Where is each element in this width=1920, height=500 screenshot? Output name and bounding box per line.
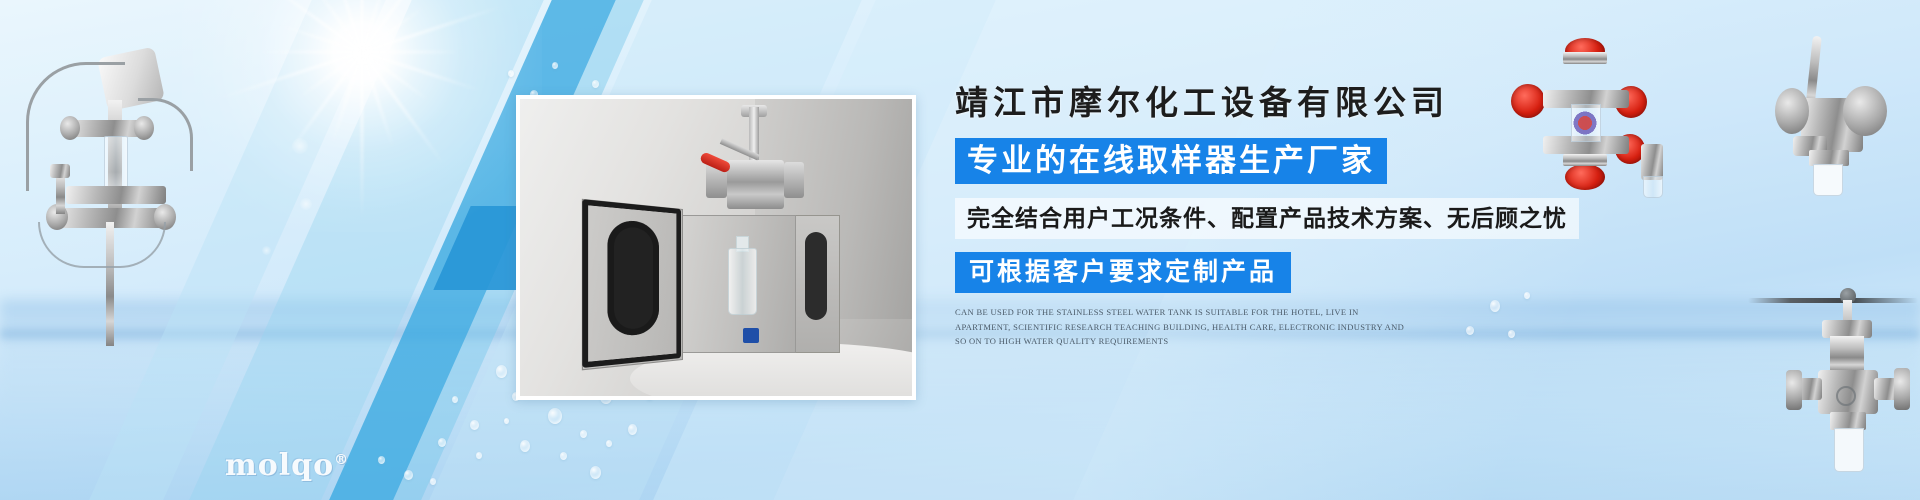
top-mounted-valve <box>704 105 806 224</box>
water-droplet-icon <box>470 420 479 430</box>
water-droplet-icon <box>438 438 446 447</box>
banner-text-block: 靖江市摩尔化工设备有限公司 专业的在线取样器生产厂家 完全结合用户工况条件、配置… <box>955 88 1595 349</box>
water-droplet-icon <box>606 440 612 447</box>
water-droplet-icon <box>378 456 385 464</box>
sun-ray <box>331 52 364 144</box>
sun-ray <box>361 51 445 164</box>
subheadline: 完全结合用户工况条件、配置产品技术方案、无后顾之忧 <box>955 198 1579 239</box>
sun-ray <box>362 5 502 53</box>
sun-ray <box>361 52 364 220</box>
water-droplet-icon <box>520 440 530 452</box>
water-droplet-icon <box>552 62 558 69</box>
water-droplet-icon <box>404 470 413 480</box>
sample-outlet <box>1641 144 1663 180</box>
flange-icon <box>134 116 154 140</box>
valve-body <box>727 160 784 210</box>
product-photo <box>516 95 916 400</box>
water-droplet-icon <box>430 478 436 485</box>
promotional-banner: 靖江市摩尔化工设备有限公司 专业的在线取样器生产厂家 完全结合用户工况条件、配置… <box>0 0 1920 500</box>
flange-right-icon <box>784 162 804 198</box>
sample-bottle <box>1643 176 1663 198</box>
right-bottom-valve <box>1788 282 1908 482</box>
lens-flare-icon <box>262 246 271 255</box>
sunburst-glow <box>182 0 542 232</box>
relief-valve-stem <box>56 172 65 214</box>
water-droplet-icon <box>548 408 562 424</box>
water-droplet-icon <box>560 452 567 460</box>
sun-ray <box>362 51 460 54</box>
product-photo-inner <box>520 99 912 396</box>
sample-bottle <box>728 248 757 315</box>
registered-trademark-icon: ® <box>334 452 349 468</box>
cabinet-door-gasket <box>582 199 681 367</box>
left-equipment-assembly <box>10 36 190 316</box>
sun-ray <box>362 51 481 92</box>
capillary-loop <box>38 222 166 268</box>
water-droplet-icon <box>590 466 601 479</box>
tagline: 可根据客户要求定制产品 <box>955 252 1291 293</box>
headline: 专业的在线取样器生产厂家 <box>955 138 1387 184</box>
water-droplet-icon <box>508 70 514 77</box>
relief-valve-cap <box>50 164 70 178</box>
flange-left-icon <box>1775 88 1809 134</box>
flange-icon <box>60 116 80 140</box>
brand-logo: molqo® <box>225 448 349 483</box>
bonnet <box>1830 336 1864 372</box>
water-droplet-icon <box>580 430 587 438</box>
water-droplet-icon <box>476 452 482 459</box>
brand-logo-text: molqo <box>225 448 334 483</box>
sample-bottle <box>1813 164 1843 196</box>
water-droplet-icon <box>452 396 458 403</box>
company-name: 靖江市摩尔化工设备有限公司 <box>955 88 1595 121</box>
water-droplet-icon <box>628 424 637 435</box>
brand-stamp-icon <box>1836 386 1856 406</box>
water-droplet-icon <box>496 365 507 378</box>
top-nipple <box>1563 52 1607 64</box>
sample-bottle <box>1834 428 1864 472</box>
sun-ray <box>219 51 363 100</box>
sun-ray <box>361 52 395 148</box>
cabinet-side-panel <box>794 215 839 354</box>
water-droplet-icon <box>504 418 509 424</box>
english-description: CAN BE USED FOR THE STAINLESS STEEL WATE… <box>955 305 1407 349</box>
flange-right-icon <box>1843 86 1887 136</box>
mid-valve-block <box>66 186 166 204</box>
blue-cap-icon <box>743 328 759 343</box>
flange-right-icon <box>1894 368 1910 410</box>
support-rail <box>1748 298 1918 303</box>
lens-flare-icon <box>300 198 312 210</box>
right-lever-valve <box>1773 36 1903 206</box>
water-droplet-icon <box>592 80 599 88</box>
lens-flare-icon <box>292 138 308 154</box>
sun-ray <box>258 51 362 54</box>
flange-left-icon <box>1786 370 1802 410</box>
